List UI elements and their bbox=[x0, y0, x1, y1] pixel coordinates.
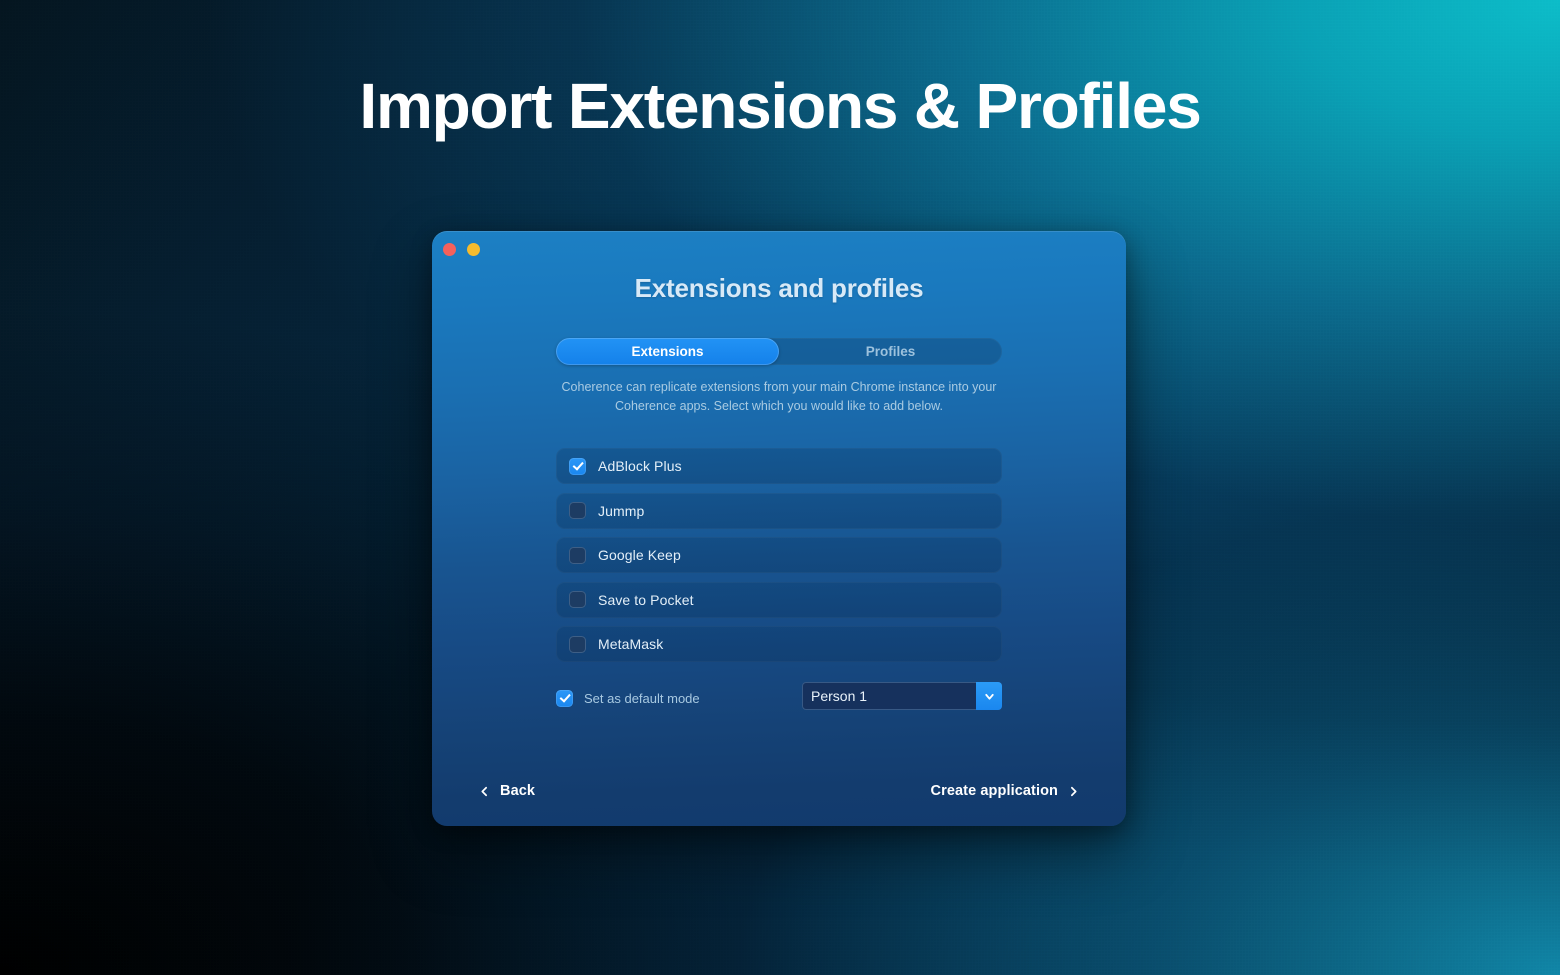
checkbox-adblock-plus[interactable] bbox=[569, 458, 586, 475]
list-item[interactable]: Jummp bbox=[556, 493, 1002, 529]
extension-list: AdBlock Plus Jummp Google Keep Save to P… bbox=[556, 448, 1002, 671]
default-mode-label: Set as default mode bbox=[584, 691, 700, 706]
list-item-label: Save to Pocket bbox=[598, 592, 694, 608]
checkbox-jummp[interactable] bbox=[569, 502, 586, 519]
list-item-label: MetaMask bbox=[598, 636, 663, 652]
checkbox-set-as-default-mode[interactable] bbox=[556, 690, 573, 707]
create-application-label: Create application bbox=[931, 783, 1059, 799]
create-application-button[interactable]: Create application bbox=[931, 783, 1081, 799]
chevron-right-icon bbox=[1067, 784, 1080, 799]
list-item[interactable]: Save to Pocket bbox=[556, 582, 1002, 618]
window-footer: Back Create application bbox=[432, 780, 1126, 808]
list-item[interactable]: Google Keep bbox=[556, 537, 1002, 573]
list-item[interactable]: MetaMask bbox=[556, 626, 1002, 662]
tab-profiles[interactable]: Profiles bbox=[779, 338, 1002, 365]
checkbox-save-to-pocket[interactable] bbox=[569, 591, 586, 608]
minimize-window-button[interactable] bbox=[467, 243, 480, 256]
profile-select[interactable]: Person 1 bbox=[802, 682, 1002, 710]
back-button-label: Back bbox=[500, 783, 535, 799]
profile-select-value: Person 1 bbox=[802, 688, 976, 704]
window-traffic-lights bbox=[443, 243, 480, 256]
list-item-label: Jummp bbox=[598, 503, 644, 519]
back-button[interactable]: Back bbox=[478, 783, 535, 799]
tab-extensions[interactable]: Extensions bbox=[556, 338, 779, 365]
chevron-down-icon[interactable] bbox=[976, 682, 1002, 710]
checkbox-metamask[interactable] bbox=[569, 636, 586, 653]
list-item-label: Google Keep bbox=[598, 547, 681, 563]
page-title: Import Extensions & Profiles bbox=[0, 73, 1560, 140]
chevron-left-icon bbox=[478, 784, 491, 799]
list-item[interactable]: AdBlock Plus bbox=[556, 448, 1002, 484]
panel-description: Coherence can replicate extensions from … bbox=[560, 378, 998, 416]
default-mode-row: Set as default mode Person 1 bbox=[556, 684, 1002, 712]
window-title: Extensions and profiles bbox=[432, 273, 1126, 304]
tab-segmented-control: Extensions Profiles bbox=[556, 338, 1002, 365]
checkbox-google-keep[interactable] bbox=[569, 547, 586, 564]
list-item-label: AdBlock Plus bbox=[598, 458, 682, 474]
close-window-button[interactable] bbox=[443, 243, 456, 256]
